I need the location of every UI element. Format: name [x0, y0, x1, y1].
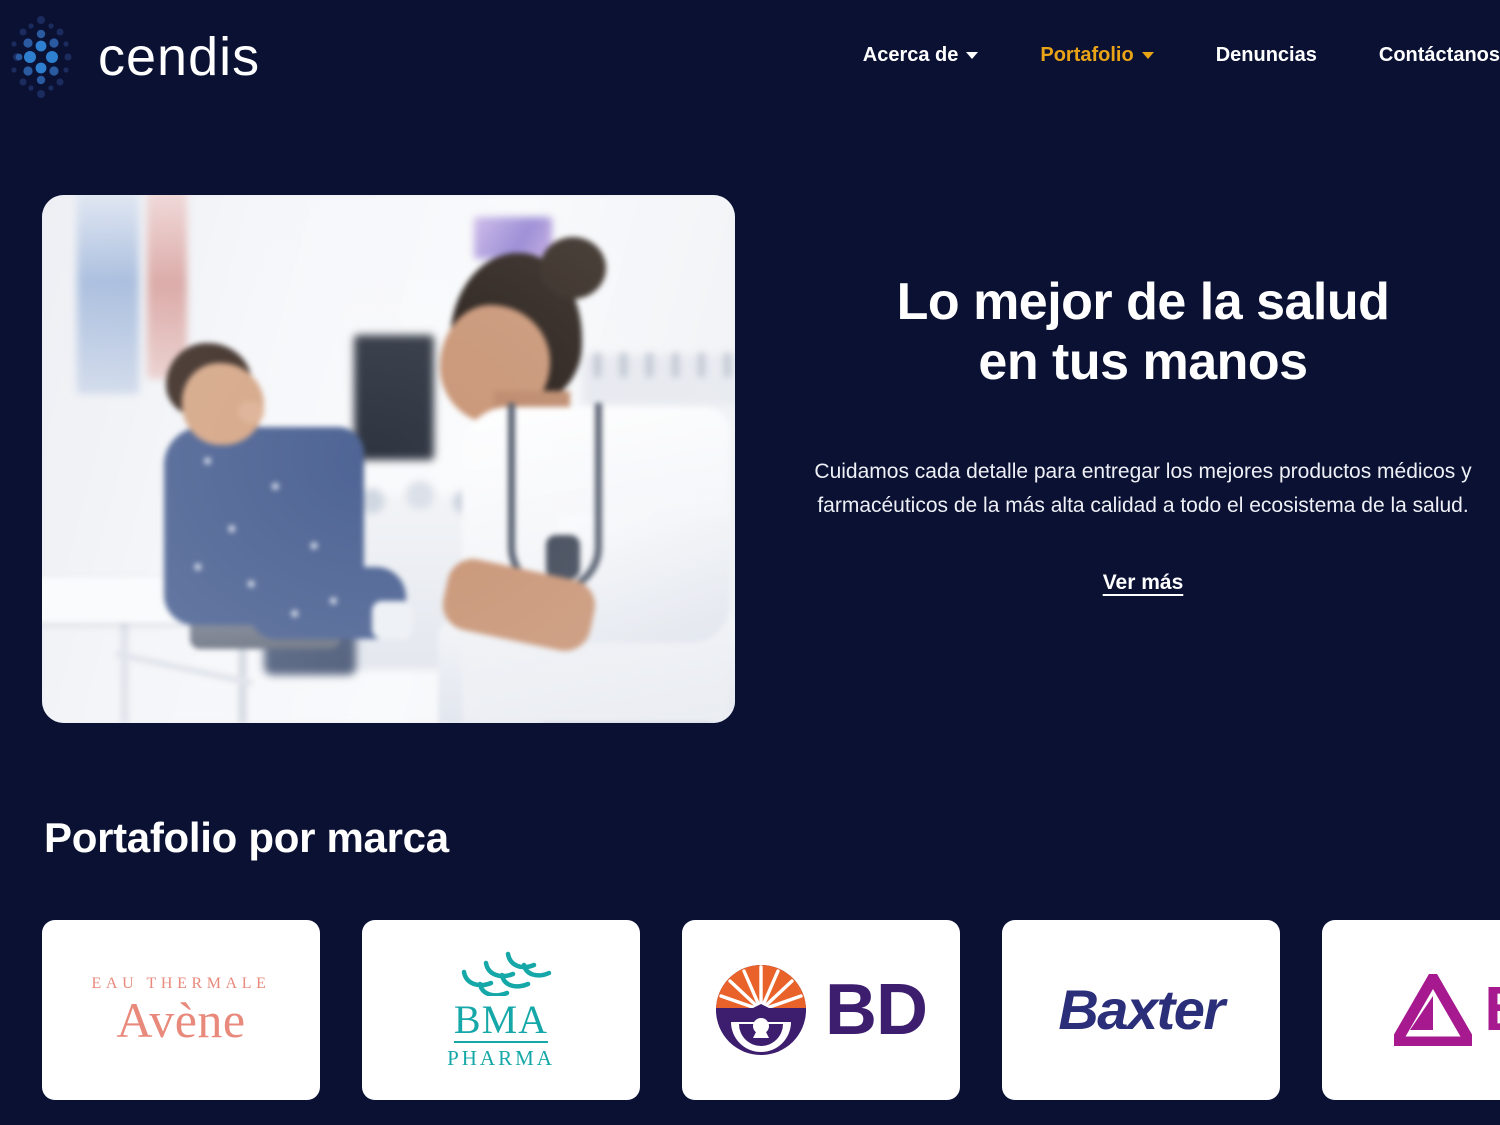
- brand-card-list: EAU THERMALE Avène BMA PHARMA: [42, 920, 1500, 1102]
- hero-title-line-1: Lo mejor de la salud: [897, 273, 1390, 331]
- bd-wordmark: BD: [825, 974, 927, 1046]
- main-nav: Acerca de Portafolio Denuncias Contáctan…: [801, 44, 1500, 67]
- avene-logo: EAU THERMALE Avène: [92, 975, 271, 1046]
- bayer-logo: Ba: [1360, 974, 1500, 1046]
- hero-subtitle: Cuidamos cada detalle para entregar los …: [790, 455, 1496, 523]
- brand-card-bayer[interactable]: Ba: [1322, 920, 1500, 1100]
- dot-cluster-icon: [8, 12, 92, 102]
- hero-image: [42, 195, 735, 723]
- chevron-down-icon: [966, 52, 978, 59]
- bma-waves-icon: [446, 950, 556, 996]
- brand-logo[interactable]: cendis: [8, 12, 260, 102]
- baxter-wordmark: Baxter: [1058, 982, 1223, 1038]
- page-root: cendis Acerca de Portafolio Denuncias Co…: [0, 0, 1500, 1125]
- avene-wordmark: Avène: [92, 995, 271, 1046]
- chevron-down-icon: [1142, 52, 1154, 59]
- hero-title-line-2: en tus manos: [978, 333, 1307, 391]
- avene-eyebrow: EAU THERMALE: [92, 975, 271, 993]
- hero-image-overlay: [42, 195, 735, 723]
- nav-item-contactanos[interactable]: Contáctanos: [1379, 44, 1500, 67]
- brand-card-baxter[interactable]: Baxter: [1002, 920, 1280, 1100]
- brand-wordmark: cendis: [98, 30, 260, 84]
- nav-item-portafolio[interactable]: Portafolio: [1040, 44, 1153, 67]
- site-header: cendis Acerca de Portafolio Denuncias Co…: [0, 0, 1500, 120]
- bd-sunburst-icon: [715, 964, 807, 1056]
- triangle-icon: [1394, 974, 1472, 1046]
- nav-label: Contáctanos: [1379, 44, 1500, 67]
- nav-label: Denuncias: [1216, 44, 1317, 67]
- ver-mas-link[interactable]: Ver más: [1103, 571, 1184, 595]
- portfolio-section-title: Portafolio por marca: [44, 814, 449, 862]
- nav-label: Portafolio: [1040, 44, 1133, 67]
- bma-logo: BMA PHARMA: [446, 950, 556, 1071]
- nav-label: Acerca de: [863, 44, 959, 67]
- bma-subtext: PHARMA: [446, 1046, 556, 1071]
- bayer-wordmark: Ba: [1484, 979, 1500, 1041]
- hero-copy: Lo mejor de la salud en tus manos Cuidam…: [790, 272, 1496, 595]
- brand-card-avene[interactable]: EAU THERMALE Avène: [42, 920, 320, 1100]
- page-title: Lo mejor de la salud en tus manos: [790, 272, 1496, 393]
- brand-card-bd[interactable]: BD: [682, 920, 960, 1100]
- nav-item-acerca-de[interactable]: Acerca de: [863, 44, 979, 67]
- bma-wordmark: BMA: [454, 1000, 548, 1043]
- bd-logo: BD: [715, 964, 927, 1056]
- brand-card-bma-pharma[interactable]: BMA PHARMA: [362, 920, 640, 1100]
- nav-item-denuncias[interactable]: Denuncias: [1216, 44, 1317, 67]
